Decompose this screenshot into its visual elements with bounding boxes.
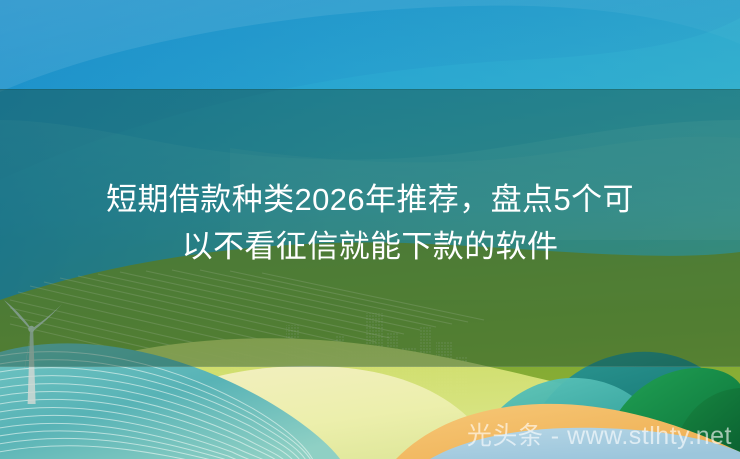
wave-line-texture: [0, 352, 316, 459]
headline-line-1: 短期借款种类2026年推荐，盘点5个可: [0, 176, 740, 223]
wave-teal-bottom-left: [0, 343, 340, 459]
headline-line-2: 以不看征信就能下款的软件: [0, 223, 740, 270]
diagonal-rays: [10, 270, 484, 396]
hill-cream-center: [96, 366, 498, 459]
page-title: 短期借款种类2026年推荐，盘点5个可 以不看征信就能下款的软件: [0, 176, 740, 270]
city-skyline: [230, 313, 467, 395]
hills-left-cluster: [0, 347, 230, 459]
site-watermark: 光头条 - www.stlhty.net: [467, 421, 732, 451]
article-cover-banner: 短期借款种类2026年推荐，盘点5个可 以不看征信就能下款的软件 光头条 - w…: [0, 0, 740, 459]
wind-turbine: [4, 300, 62, 404]
